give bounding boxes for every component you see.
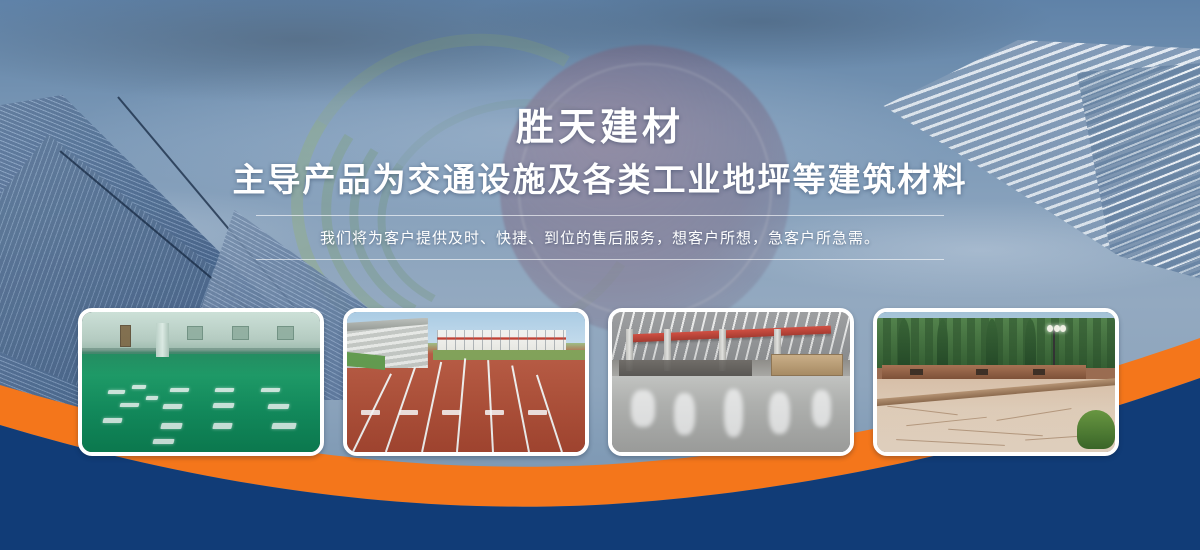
headline-text: 主导产品为交通设施及各类工业地坪等建筑材料	[0, 160, 1200, 200]
red-running-track-photo[interactable]	[343, 308, 589, 456]
stamped-concrete-plaza-photo[interactable]	[873, 308, 1119, 456]
hero-banner: 胜天建材 主导产品为交通设施及各类工业地坪等建筑材料 我们将为客户提供及时、快捷…	[0, 0, 1200, 550]
divider-line-bottom	[256, 259, 944, 260]
banner-text-block: 胜天建材 主导产品为交通设施及各类工业地坪等建筑材料 我们将为客户提供及时、快捷…	[0, 108, 1200, 260]
industrial-warehouse-floor-photo[interactable]	[608, 308, 854, 456]
green-epoxy-floor-photo[interactable]	[78, 308, 324, 456]
photo-card-row	[0, 308, 1200, 458]
tagline-group: 我们将为客户提供及时、快捷、到位的售后服务，想客户所想，急客户所急需。	[0, 215, 1200, 260]
tagline-text: 我们将为客户提供及时、快捷、到位的售后服务，想客户所想，急客户所急需。	[256, 216, 944, 259]
brand-title: 胜天建材	[0, 108, 1200, 150]
